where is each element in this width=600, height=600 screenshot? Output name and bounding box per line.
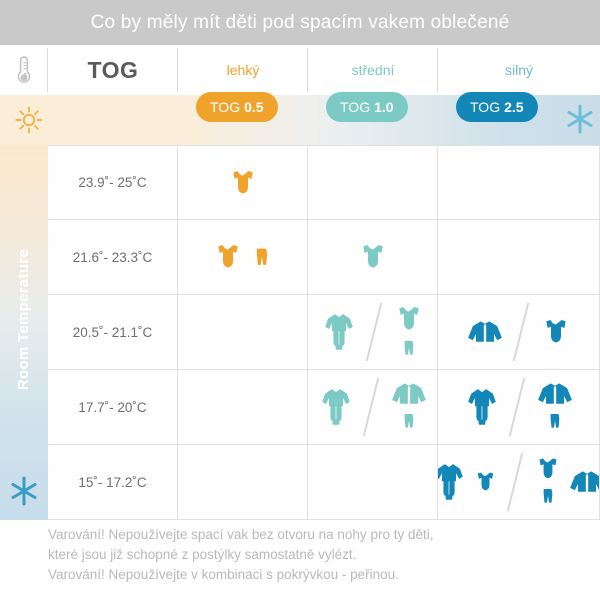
- clothing-cell-r1-medium: [308, 220, 438, 295]
- tog-label: TOG: [88, 57, 139, 84]
- bodysuit-icon: [226, 168, 260, 198]
- table-row: 15˚- 17.2˚C: [48, 445, 600, 520]
- clothing-cell-r2-strong: [438, 295, 600, 370]
- column-header-strong: silný: [438, 45, 600, 95]
- warning-line-3: Varování! Nepoužívejte v kombinaci s pok…: [48, 565, 600, 585]
- pants-icon: [249, 242, 275, 272]
- column-header-medium: střední: [308, 45, 438, 95]
- column-label-light: lehký: [227, 62, 260, 78]
- footed-sleepsuit-icon: [320, 306, 358, 358]
- tog-pill-strong-prefix: TOG: [470, 99, 500, 115]
- bodysuit-icon: [211, 242, 245, 272]
- temperature-value: 15˚- 17.2˚C: [78, 475, 146, 490]
- pants-icon: [544, 408, 566, 434]
- temperature-value: 20.5˚- 21.1˚C: [73, 325, 153, 340]
- warning-footer: Varování! Nepoužívejte spací vak bez otv…: [48, 521, 600, 600]
- clothing-cell-r2-medium: [308, 295, 438, 370]
- clothing-cell-r0-medium: [308, 145, 438, 220]
- temperature-value: 23.9˚- 25˚C: [78, 175, 146, 190]
- stacked-outfit: [535, 381, 575, 434]
- tog-header-cell: TOG: [48, 45, 178, 95]
- temperature-cell: 21.6˚- 23.3˚C: [48, 220, 178, 295]
- clothing-combination: [320, 301, 426, 363]
- sun-icon: [14, 105, 44, 135]
- clothing-cell-r1-strong: [438, 220, 600, 295]
- bodysuit-icon: [472, 470, 499, 494]
- temperature-cell: 15˚- 17.2˚C: [48, 445, 178, 520]
- tog-pill-strong: TOG 2.5: [456, 92, 538, 122]
- clothing-combination: [438, 451, 600, 513]
- bodysuit-icon: [392, 304, 426, 334]
- bodysuit-icon: [356, 242, 390, 272]
- pants-icon: [544, 408, 566, 434]
- footed-sleepsuit-icon: [463, 381, 501, 433]
- pants-icon: [398, 335, 420, 361]
- clothing-cell-r3-light: [178, 370, 308, 445]
- table-row: 23.9˚- 25˚C: [48, 145, 600, 220]
- clothing-cell-r3-strong: [438, 370, 600, 445]
- bodysuit-icon: [539, 317, 573, 347]
- room-temperature-label: Room Temperature: [16, 249, 33, 390]
- tog-pill-medium: TOG 1.0: [326, 92, 408, 122]
- clothing-cell-r2-light: [178, 295, 308, 370]
- tog-pill-medium-prefix: TOG: [340, 99, 370, 115]
- bodysuit-with-pants-icon: [533, 456, 563, 509]
- longsleeve-shirt-icon: [389, 381, 429, 407]
- warning-line-2: které jsou již schopné z postýlky samost…: [48, 545, 600, 565]
- column-label-medium: střední: [352, 62, 395, 78]
- column-header-light: lehký: [178, 45, 308, 95]
- snowflake-icon: [10, 475, 38, 507]
- table-row: 17.7˚- 20˚C: [48, 370, 600, 445]
- thermometer-cell: [0, 45, 48, 95]
- stacked-outfit: [389, 381, 429, 434]
- table-row: 21.6˚- 23.3˚C: [48, 220, 600, 295]
- clothing-cell-r0-light: [178, 145, 308, 220]
- clothing-cell-r3-medium: [308, 370, 438, 445]
- clothing-cell-r4-medium: [308, 445, 438, 520]
- column-label-strong: silný: [505, 62, 533, 78]
- clothing-cell-r4-light: [178, 445, 308, 520]
- temperature-cell: 23.9˚- 25˚C: [48, 145, 178, 220]
- footed-sleepsuit-icon: [317, 381, 355, 433]
- tog-chart: Co by měly mít děti pod spacím vakem obl…: [0, 0, 600, 600]
- clothing-combination: [317, 376, 429, 438]
- temperature-value: 21.6˚- 23.3˚C: [73, 250, 153, 265]
- clothing-combination: [465, 301, 573, 363]
- temperature-gradient-bar: TOG 0.5 TOG 1.0 TOG 2.5: [0, 95, 600, 145]
- clothing-combination: [211, 242, 275, 272]
- room-temperature-label-wrap: Room Temperature: [0, 145, 48, 520]
- option-separator: [505, 376, 531, 438]
- clothing-cell-r4-strong: [438, 445, 600, 520]
- thermometer-icon: [15, 55, 33, 85]
- temperature-cell: 17.7˚- 20˚C: [48, 370, 178, 445]
- tog-pill-light: TOG 0.5: [196, 92, 278, 122]
- clothing-cell-r0-strong: [438, 145, 600, 220]
- clothing-cell-r1-light: [178, 220, 308, 295]
- option-separator: [359, 376, 385, 438]
- bodysuit-icon: [533, 456, 563, 482]
- clothing-combination: [463, 376, 575, 438]
- longsleeve-shirt-icon: [567, 469, 600, 495]
- clothing-combination: [226, 168, 260, 198]
- clothing-grid: 23.9˚- 25˚C 21.6˚- 23.3˚C 20.5˚- 21.1˚C: [48, 145, 600, 520]
- longsleeve-shirt-icon: [465, 319, 505, 345]
- footed-sleepsuit-icon: [438, 456, 468, 508]
- pants-icon: [537, 483, 559, 509]
- warning-line-1: Varování! Nepoužívejte spací vak bez otv…: [48, 525, 600, 545]
- option-separator: [362, 301, 388, 363]
- room-temperature-axis: Room Temperature: [0, 145, 48, 520]
- stacked-outfit: [392, 304, 426, 361]
- temperature-value: 17.7˚- 20˚C: [78, 400, 146, 415]
- tog-pill-medium-value: 1.0: [374, 99, 393, 115]
- option-separator: [503, 451, 529, 513]
- table-row: 20.5˚- 21.1˚C: [48, 295, 600, 370]
- tog-pill-light-value: 0.5: [244, 99, 263, 115]
- clothing-combination: [356, 242, 390, 272]
- table-header: TOG lehký střední silný: [0, 45, 600, 95]
- page-title-bar: Co by měly mít děti pod spacím vakem obl…: [0, 0, 600, 45]
- tog-pill-strong-value: 2.5: [504, 99, 523, 115]
- option-separator: [509, 301, 535, 363]
- pants-icon: [398, 408, 420, 434]
- temperature-cell: 20.5˚- 21.1˚C: [48, 295, 178, 370]
- snowflake-icon: [566, 103, 594, 135]
- tog-pill-light-prefix: TOG: [210, 99, 240, 115]
- pants-icon: [398, 408, 420, 434]
- pants-icon: [398, 335, 420, 361]
- longsleeve-shirt-icon: [535, 381, 575, 407]
- page-title: Co by měly mít děti pod spacím vakem obl…: [91, 12, 510, 34]
